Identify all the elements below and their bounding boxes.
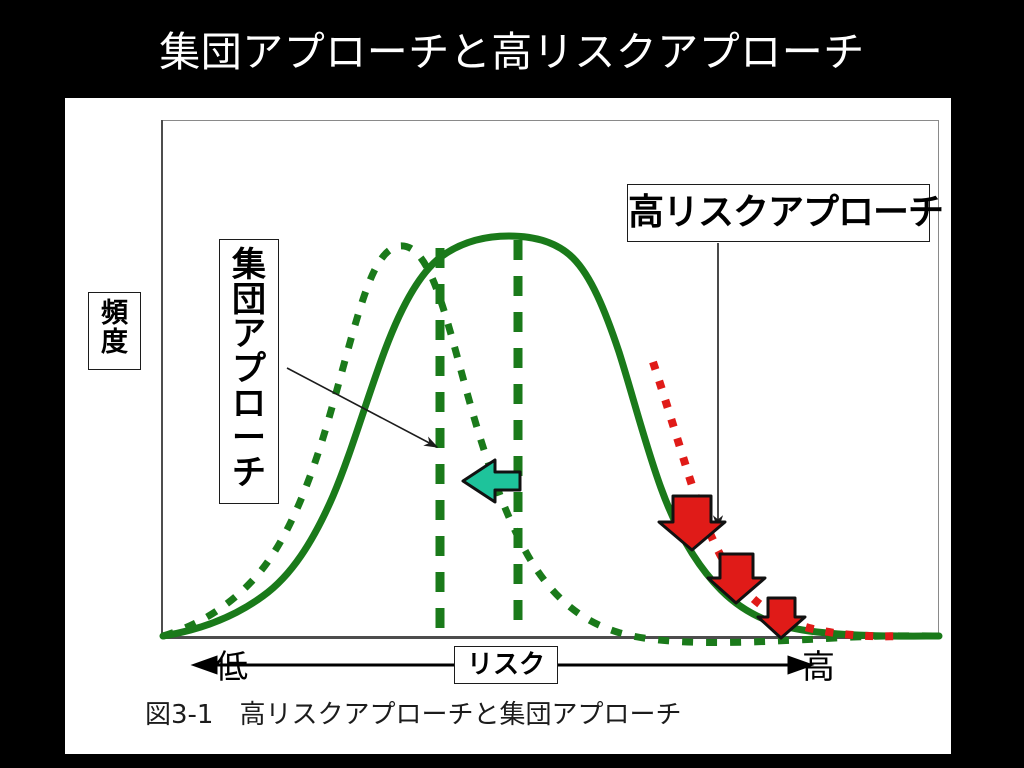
page-title: 集団アプローチと高リスクアプローチ	[0, 24, 1024, 80]
slide-root: 集団アプローチと高リスクアプローチ	[0, 0, 1024, 768]
high-risk-approach-label-box: 高リスクアプローチ	[627, 184, 930, 242]
population-label-char-3: ア	[220, 317, 278, 352]
population-label-char-7: チ	[220, 456, 278, 491]
y-axis-label-box: 頻 度	[88, 292, 141, 370]
population-label-char-1: 集	[220, 248, 278, 283]
population-label-char-2: 団	[220, 283, 278, 318]
y-axis-label-char-1: 頻	[89, 299, 140, 328]
figure-panel: 頻 度 集 団 ア プ ロ ー チ 高リスクアプローチ リスク 低 高 図3-1…	[65, 98, 951, 754]
population-label-char-4: プ	[220, 352, 278, 387]
population-label-char-5: ロ	[220, 387, 278, 422]
y-axis-label-char-2: 度	[89, 328, 140, 357]
x-axis-line	[161, 636, 941, 639]
population-label-char-6: ー	[220, 421, 278, 456]
y-axis-line	[161, 120, 163, 639]
population-approach-label-box: 集 団 ア プ ロ ー チ	[219, 239, 279, 504]
axis-label-low: 低	[215, 648, 248, 686]
axis-label-high: 高	[802, 648, 835, 686]
figure-caption: 図3-1 高リスクアプローチと集団アプローチ	[145, 698, 681, 732]
risk-axis-label-box: リスク	[454, 646, 558, 684]
